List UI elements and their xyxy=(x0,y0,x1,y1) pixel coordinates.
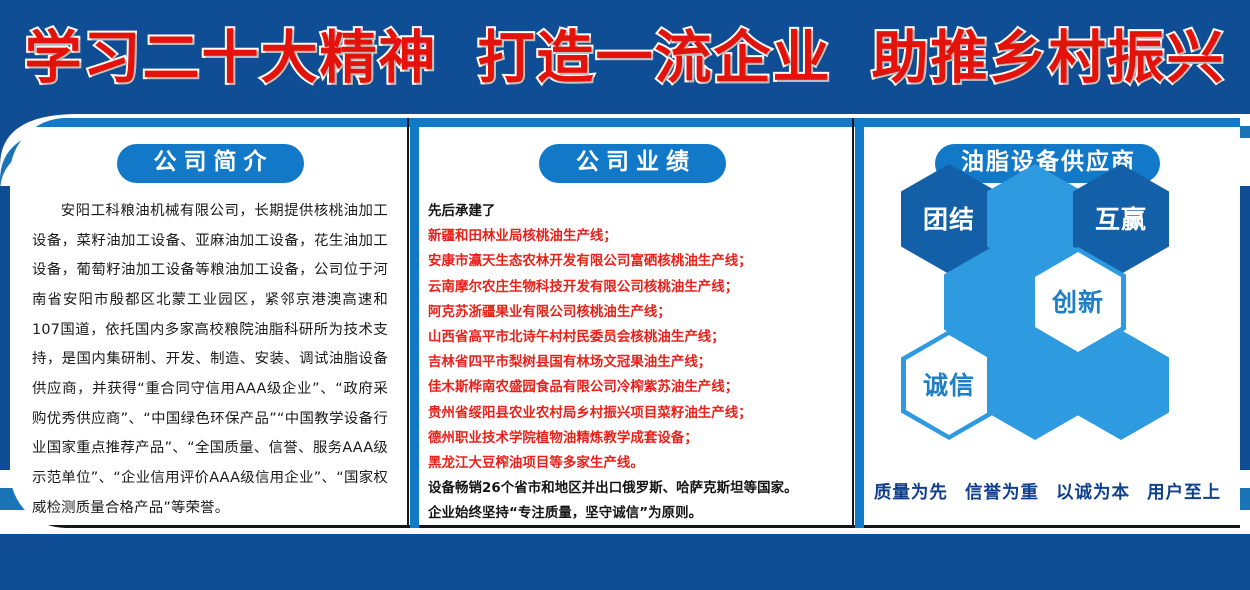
panel-equipment-supplier: 油脂设备供应商 团结 xyxy=(855,118,1240,528)
slogan-part: 质量为先 xyxy=(874,483,948,503)
achievement-item: 黑龙江大豆榨油项目等多家生产线。 xyxy=(428,451,855,476)
achievement-item: 佳木斯桦南农盛园食品有限公司冷榨紫苏油生产线； xyxy=(428,375,855,400)
hexagon-skyscraper-icon xyxy=(1073,330,1169,440)
sheet-top-rule xyxy=(10,118,1240,127)
slogan-part: 信誉为重 xyxy=(965,483,1039,503)
company-achievements-title: 公司业绩 xyxy=(539,144,726,183)
achievement-item: 安康市瀛天生态农林开发有限公司富硒核桃油生产线； xyxy=(428,249,855,274)
achievement-item: 德州职业技术学院植物油精炼教学成套设备； xyxy=(428,426,855,451)
sheet-bottom-rule xyxy=(10,525,1240,528)
content-sheet: 公司简介 安阳工科粮油机械有限公司，长期提供核桃油加工设备，菜籽油加工设备、亚麻… xyxy=(10,118,1240,528)
slogan-part: 用户至上 xyxy=(1147,483,1221,503)
headline-band: 学习二十大精神 打造一流企业 助推乡村振兴 xyxy=(0,0,1250,105)
headline: 学习二十大精神 打造一流企业 助推乡村振兴 xyxy=(0,0,1250,105)
hexagon-honeycomb: 团结 互赢 xyxy=(855,164,1240,414)
hexagon-label: 创新 xyxy=(1052,290,1104,315)
achievement-item: 山西省高平市北诗午村村民委员会核桃油生产线； xyxy=(428,325,855,350)
panel-divider-right xyxy=(855,118,864,528)
achievement-item: 贵州省绥阳县农业农村局乡村振兴项目菜籽油生产线； xyxy=(428,401,855,426)
achievements-tail: 设备畅销26个省市和地区并出口俄罗斯、哈萨克斯坦等国家。 xyxy=(428,476,855,501)
panel-company-profile: 公司简介 安阳工科粮油机械有限公司，长期提供核桃油加工设备，菜籽油加工设备、亚麻… xyxy=(10,118,410,528)
panel-company-achievements: 公司业绩 先后承建了 新疆和田林业局核桃油生产线； 安康市瀛天生态农林开发有限公… xyxy=(410,118,855,528)
slogan-part: 以诚为本 xyxy=(1056,483,1130,503)
company-profile-title: 公司简介 xyxy=(117,144,304,183)
headline-part-3: 助推乡村振兴 xyxy=(872,12,1226,94)
headline-part-2: 打造一流企业 xyxy=(478,12,832,94)
hexagon-chengxin: 诚信 xyxy=(901,330,997,440)
poster-banner: 学习二十大精神 打造一流企业 助推乡村振兴 公司简介 安阳工科粮油机械有限公司，… xyxy=(0,0,1250,590)
achievement-item: 吉林省四平市梨树县国有林场文冠果油生产线； xyxy=(428,350,855,375)
hexagon-label: 团结 xyxy=(923,207,975,232)
achievements-lead: 先后承建了 xyxy=(428,199,855,224)
panel-divider-left xyxy=(410,118,419,528)
hexagon-label: 互赢 xyxy=(1095,207,1147,232)
company-profile-body: 安阳工科粮油机械有限公司，长期提供核桃油加工设备，菜籽油加工设备、亚麻油加工设备… xyxy=(32,197,388,523)
hexagon-handshake-icon xyxy=(987,330,1083,440)
achievements-tail: 企业始终坚持“专注质量，坚守诚信”为原则。 xyxy=(428,501,855,526)
achievement-item: 阿克苏浙疆果业有限公司核桃油生产线； xyxy=(428,300,855,325)
achievement-item: 云南摩尔农庄生物科技开发有限公司核桃油生产线； xyxy=(428,275,855,300)
hexagon-label: 诚信 xyxy=(923,373,975,398)
headline-part-1: 学习二十大精神 xyxy=(25,12,438,94)
achievements-list: 先后承建了 新疆和田林业局核桃油生产线； 安康市瀛天生态农林开发有限公司富硒核桃… xyxy=(428,199,855,527)
company-slogan: 质量为先 信誉为重 以诚为本 用户至上 xyxy=(855,479,1240,504)
achievement-item: 新疆和田林业局核桃油生产线； xyxy=(428,224,855,249)
